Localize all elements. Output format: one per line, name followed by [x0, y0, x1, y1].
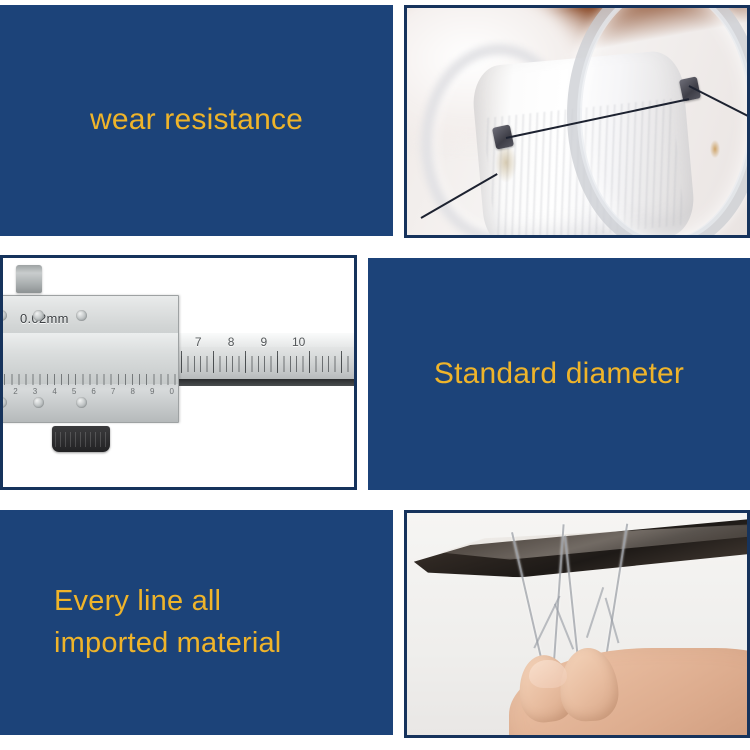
- caliper-vernier-8: 8: [130, 387, 134, 396]
- spool-image: [407, 8, 747, 235]
- panel-wear-resistance: wear resistance: [0, 5, 393, 236]
- caliper-screw-bottom-mid: [33, 397, 44, 408]
- caliper-screw-bottom-right: [76, 397, 87, 408]
- caliper-scale-10: 10: [292, 335, 305, 349]
- caliper-screw-top-mid: [33, 310, 44, 321]
- caliper-precision-label: 0.02mm: [20, 311, 69, 326]
- caliper-thumb-screw-cap: [16, 265, 42, 272]
- caliper-vernier-7: 7: [111, 387, 115, 396]
- caliper-depth-bar: [179, 379, 354, 385]
- photo-spool: [404, 5, 750, 238]
- caliper-vernier-0: 0: [170, 387, 174, 396]
- feature-collage: wear resistance: [0, 0, 750, 750]
- caliper-vernier-9: 9: [150, 387, 154, 396]
- caliper-scale-9: 9: [261, 335, 268, 349]
- photo-hand: [404, 510, 750, 738]
- caliper-slider-jaw: 1 2 3 4 5 6 7 8 9 0 0.02mm: [3, 295, 179, 423]
- caliper-screw-top-left: [3, 310, 7, 321]
- caliper-vernier-3: 3: [33, 387, 37, 396]
- caliper-image: 1 2 3 4 5 6 7 8 9 10 1 2: [3, 258, 354, 487]
- held-line-kink-4: [605, 598, 620, 643]
- caliper-vernier-4: 4: [52, 387, 56, 396]
- caption-wear-resistance: wear resistance: [90, 99, 303, 142]
- caliper-scale-8: 8: [228, 335, 235, 349]
- photo-caliper: 1 2 3 4 5 6 7 8 9 10 1 2: [0, 255, 357, 490]
- caliper-thumb-roll: [52, 426, 110, 452]
- spool-front-flange-inner: [577, 8, 747, 235]
- held-line-kink-3: [586, 587, 604, 638]
- fingernail: [529, 660, 566, 689]
- spool-edge-tint: [710, 140, 720, 158]
- caliper-vernier-6: 6: [91, 387, 95, 396]
- caliper-vernier-2: 2: [13, 387, 17, 396]
- caption-imported-material-block: Every line all imported material: [0, 581, 281, 663]
- caliper-thumb-screw: [16, 265, 42, 293]
- hand-image: [407, 513, 747, 735]
- caliper-vernier-5: 5: [72, 387, 76, 396]
- caliper-vernier-numbers: 1 2 3 4 5 6 7 8 9 0: [3, 384, 174, 399]
- caption-imported-material-line1: Every line all: [0, 581, 281, 622]
- panel-standard-diameter: Standard diameter: [368, 258, 750, 490]
- caption-standard-diameter: Standard diameter: [434, 353, 684, 396]
- caliper-body: 1 2 3 4 5 6 7 8 9 10 1 2: [3, 295, 354, 423]
- caption-imported-material-line2: imported material: [0, 623, 281, 664]
- caliper-screw-top-right: [76, 310, 87, 321]
- panel-imported-material: Every line all imported material: [0, 510, 393, 735]
- spool-residue: [495, 149, 517, 183]
- caliper-scale-7: 7: [195, 335, 202, 349]
